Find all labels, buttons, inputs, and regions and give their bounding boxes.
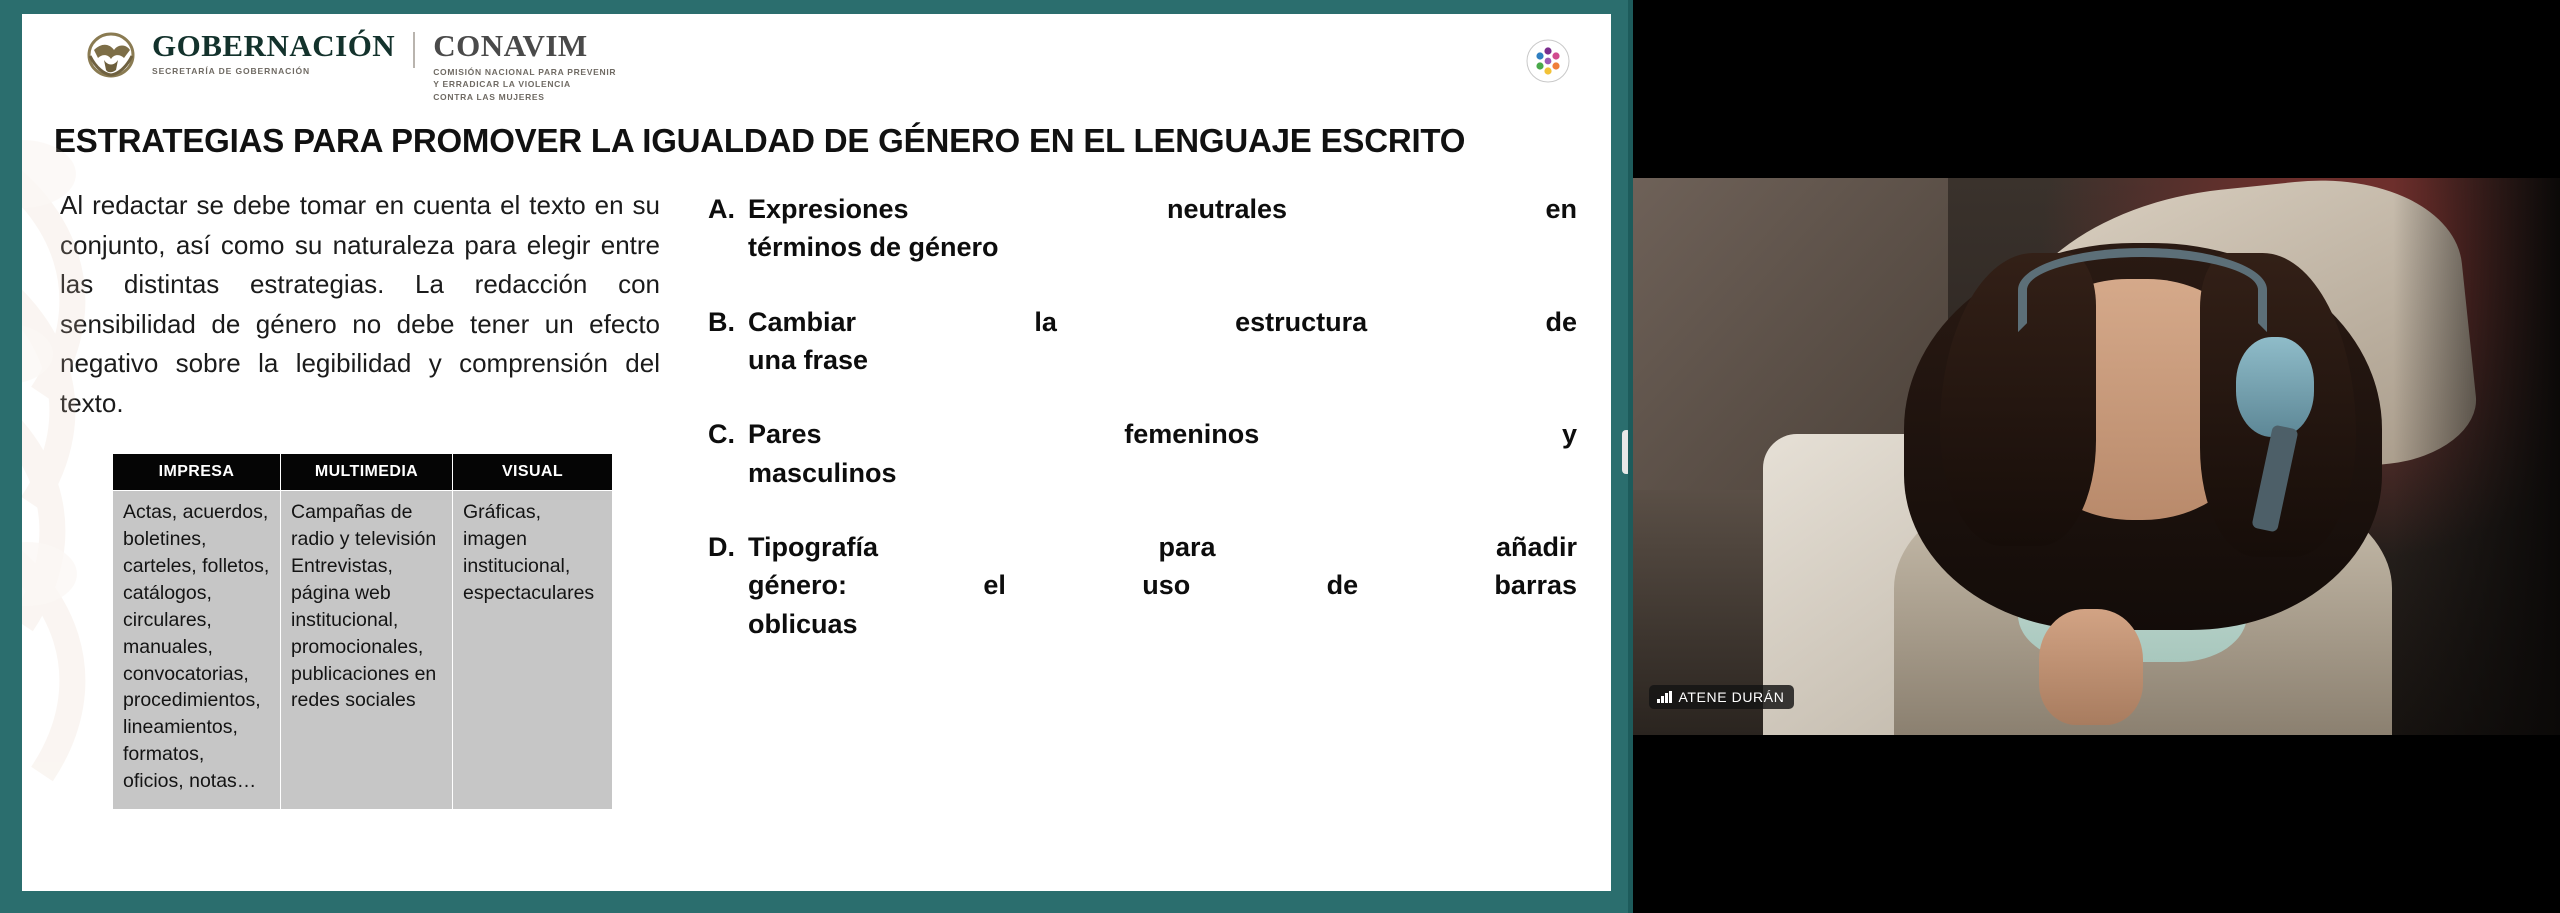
headset-headband-icon [2018, 248, 2267, 332]
option-a-line-1: Expresiones neutrales en [748, 190, 1577, 228]
list-item: B. Cambiar la estructura de una frase [708, 303, 1577, 380]
option-b-line-2: una frase [748, 341, 1577, 379]
option-text-c: Pares femeninos y masculinos [748, 415, 1577, 492]
option-d-line-1: Tipografía para añadir [748, 528, 1577, 566]
logo-divider [413, 32, 415, 68]
slide-left-column: Al redactar se debe tomar en cuenta el t… [60, 186, 660, 810]
option-d-line-2: género: el uso de barras [748, 566, 1577, 604]
list-item: C. Pares femeninos y masculinos [708, 415, 1577, 492]
intro-paragraph: Al redactar se debe tomar en cuenta el t… [60, 186, 660, 423]
table-header-row: IMPRESA MULTIMEDIA VISUAL [113, 454, 613, 491]
slide-header: GOBERNACIÓN SECRETARÍA DE GOBERNACIÓN CO… [22, 14, 1611, 116]
option-text-b: Cambiar la estructura de una frase [748, 303, 1577, 380]
slide-body: Al redactar se debe tomar en cuenta el t… [22, 186, 1611, 810]
option-letter-d: D. [708, 528, 748, 643]
table-cell-impresa: Actas, acuerdos, boletines, carteles, fo… [113, 491, 281, 810]
option-c-line-2: masculinos [748, 454, 1577, 492]
option-text-a: Expresiones neutrales en términos de gén… [748, 190, 1577, 267]
government-logo-lockup: GOBERNACIÓN SECRETARÍA DE GOBERNACIÓN CO… [80, 30, 616, 103]
option-d-line-3: oblicuas [748, 605, 1577, 643]
participant-figure [1883, 211, 2402, 735]
option-letter-a: A. [708, 190, 748, 267]
video-pane: ATENE DURÁN [1633, 0, 2560, 913]
mexico-eagle-emblem-icon [80, 32, 142, 78]
conavim-subtitle-line-1: COMISIÓN NACIONAL PARA PREVENIR [433, 66, 616, 78]
participant-name-badge: ATENE DURÁN [1649, 685, 1794, 709]
conavim-subtitle-line-3: CONTRA LAS MUJERES [433, 91, 616, 103]
strategy-options-list: A. Expresiones neutrales en términos de … [708, 190, 1577, 643]
option-letter-b: B. [708, 303, 748, 380]
background-shadow [2393, 178, 2560, 735]
conavim-subtitle: COMISIÓN NACIONAL PARA PREVENIR Y ERRADI… [433, 66, 616, 103]
table-header-multimedia: MULTIMEDIA [281, 454, 453, 491]
table-cell-multimedia: Campañas de radio y televisión Entrevist… [281, 491, 453, 810]
conavim-logo-text: CONAVIM COMISIÓN NACIONAL PARA PREVENIR … [433, 30, 616, 103]
option-a-line-2: términos de género [748, 228, 1577, 266]
presentation-slide: GOBERNACIÓN SECRETARÍA DE GOBERNACIÓN CO… [22, 14, 1611, 891]
list-item: D. Tipografía para añadir género: el uso… [708, 528, 1577, 643]
signal-bars-icon [1657, 691, 1672, 703]
gobernacion-wordmark: GOBERNACIÓN [152, 30, 395, 61]
conavim-circular-emblem-icon [1525, 38, 1571, 84]
participant-hand [2039, 609, 2143, 724]
headset-earcup-icon [2236, 337, 2314, 436]
list-item: A. Expresiones neutrales en términos de … [708, 190, 1577, 267]
conavim-wordmark: CONAVIM [433, 30, 616, 61]
pane-resize-handle[interactable] [1622, 430, 1631, 474]
table-row: Actas, acuerdos, boletines, carteles, fo… [113, 491, 613, 810]
table-header-impresa: IMPRESA [113, 454, 281, 491]
table-cell-visual: Gráficas, imagen institucional, espectac… [453, 491, 613, 810]
shared-slide-pane: GOBERNACIÓN SECRETARÍA DE GOBERNACIÓN CO… [0, 0, 1633, 913]
screen-share-window: GOBERNACIÓN SECRETARÍA DE GOBERNACIÓN CO… [0, 0, 2560, 913]
option-text-d: Tipografía para añadir género: el uso de… [748, 528, 1577, 643]
option-letter-c: C. [708, 415, 748, 492]
gobernacion-logo-text: GOBERNACIÓN SECRETARÍA DE GOBERNACIÓN [152, 30, 395, 76]
slide-title: ESTRATEGIAS PARA PROMOVER LA IGUALDAD DE… [54, 122, 1611, 160]
participant-video-tile[interactable]: ATENE DURÁN [1633, 178, 2560, 735]
table-header-visual: VISUAL [453, 454, 613, 491]
conavim-subtitle-line-2: Y ERRADICAR LA VIOLENCIA [433, 78, 616, 90]
media-types-table: IMPRESA MULTIMEDIA VISUAL Actas, acuerdo… [112, 453, 613, 810]
slide-right-column: A. Expresiones neutrales en términos de … [660, 186, 1577, 810]
option-c-line-1: Pares femeninos y [748, 415, 1577, 453]
participant-name-label: ATENE DURÁN [1679, 689, 1785, 705]
option-b-line-1: Cambiar la estructura de [748, 303, 1577, 341]
gobernacion-subtitle: SECRETARÍA DE GOBERNACIÓN [152, 66, 395, 76]
